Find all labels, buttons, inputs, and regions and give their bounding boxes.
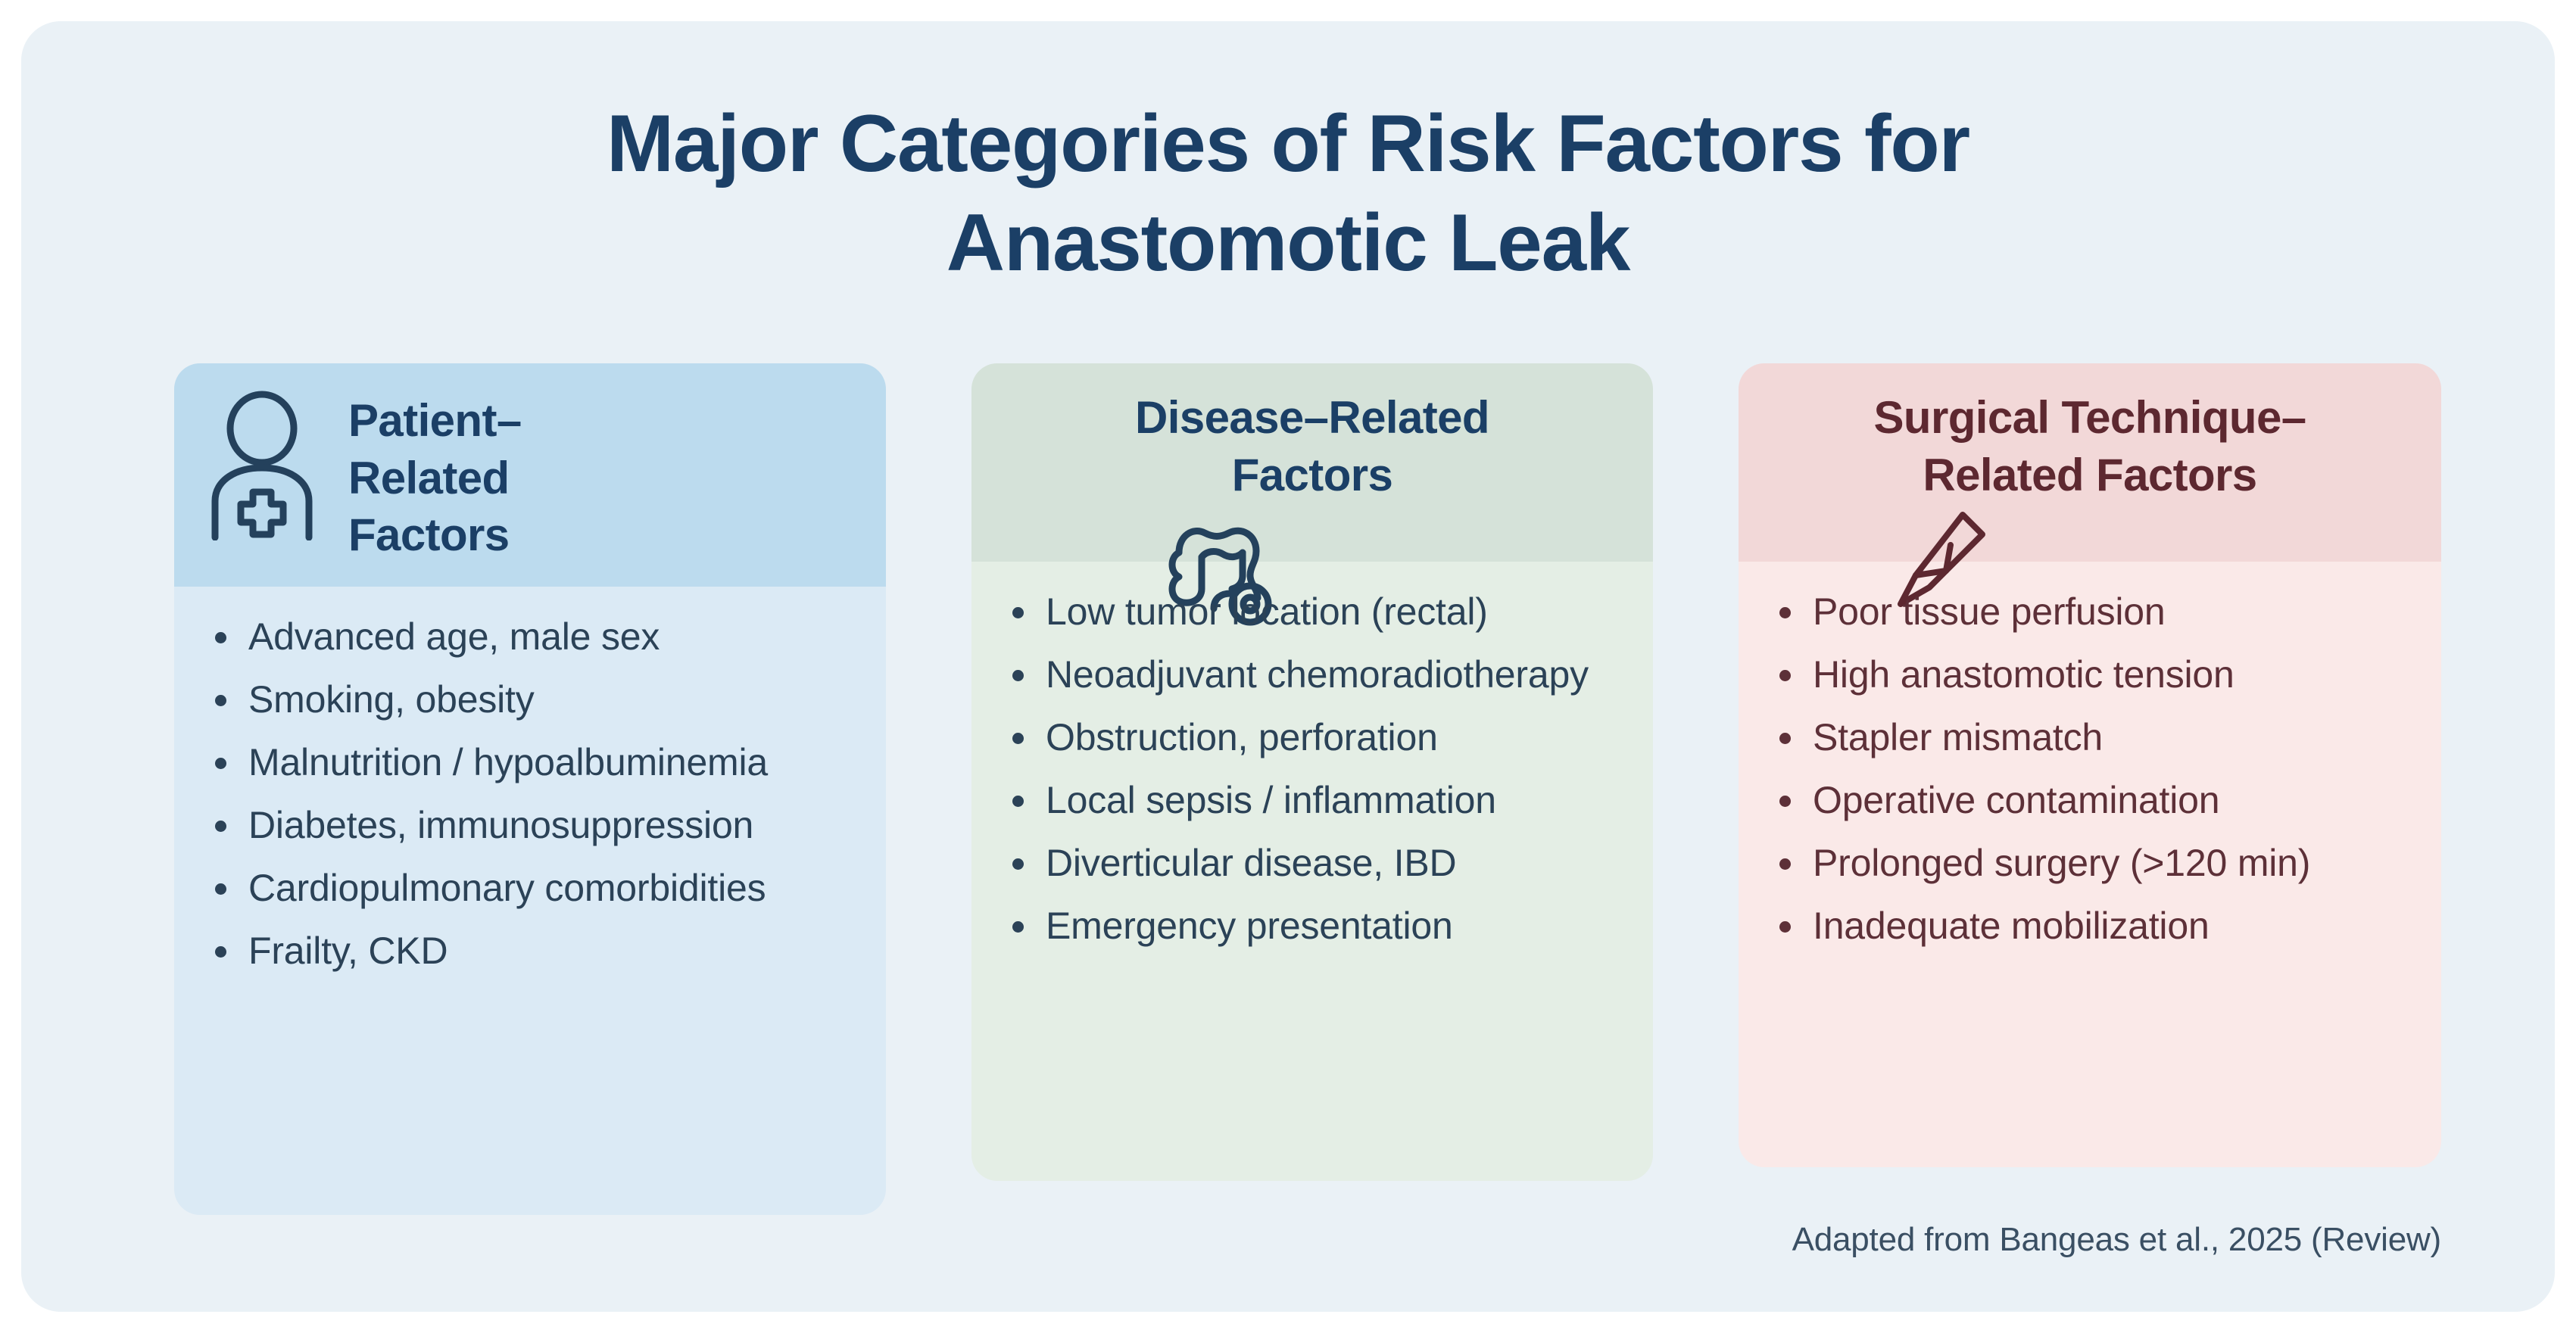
category-cards: Patient– Related Factors Advanced age, m…	[21, 363, 2555, 1188]
list-item: Poor tissue perfusion	[1773, 589, 2411, 635]
card-surgical-technique-related-body: Poor tissue perfusion High anastomotic t…	[1739, 562, 2441, 1167]
list-item: Operative contamination	[1773, 777, 2411, 824]
list-item: Malnutrition / hypoalbuminemia	[209, 740, 856, 786]
card-surgical-technique-related[interactable]: Surgical Technique– Related Factors Poor…	[1739, 363, 2441, 1167]
card-patient-related-title-line-3: Factors	[348, 506, 522, 564]
title-line-1: Major Categories of Risk Factors for	[21, 94, 2555, 193]
card-disease-related-title-line-1: Disease–Related	[1005, 389, 1620, 447]
list-item: Local sepsis / inflammation	[1006, 777, 1623, 824]
list-item: High anastomotic tension	[1773, 652, 2411, 698]
card-patient-related-body: Advanced age, male sex Smoking, obesity …	[174, 587, 886, 1215]
list-item: Neoadjuvant chemoradiotherapy	[1006, 652, 1623, 698]
list-item: Advanced age, male sex	[209, 614, 856, 660]
list-item: Inadequate mobilization	[1773, 903, 2411, 949]
list-item: Frailty, CKD	[209, 928, 856, 974]
list-item: Prolonged surgery (>120 min)	[1773, 840, 2411, 886]
card-patient-related-list: Advanced age, male sex Smoking, obesity …	[209, 614, 856, 974]
list-item: Diabetes, immunosuppression	[209, 802, 856, 849]
list-item: Stapler mismatch	[1773, 715, 2411, 761]
card-disease-related-body: Low tumor location (rectal) Neoadjuvant …	[971, 562, 1653, 1181]
patient-with-medical-cross-icon	[207, 389, 329, 544]
card-disease-related[interactable]: Disease–Related Factors	[971, 363, 1653, 1181]
list-item: Smoking, obesity	[209, 677, 856, 723]
card-surgical-technique-related-header: Surgical Technique– Related Factors	[1739, 363, 2441, 562]
page-title: Major Categories of Risk Factors for Ana…	[21, 94, 2555, 291]
list-item: Diverticular disease, IBD	[1006, 840, 1623, 886]
list-item: Emergency presentation	[1006, 903, 1623, 949]
card-disease-related-title-line-2: Factors	[1005, 447, 1620, 504]
card-surgical-technique-related-title: Surgical Technique– Related Factors	[1772, 389, 2408, 503]
card-patient-related-title-line-2: Related	[348, 450, 522, 507]
card-patient-related[interactable]: Patient– Related Factors Advanced age, m…	[174, 363, 886, 1215]
card-surgical-technique-related-title-line-2: Related Factors	[1772, 447, 2408, 504]
title-line-2: Anastomotic Leak	[21, 193, 2555, 292]
card-patient-related-header: Patient– Related Factors	[174, 363, 886, 587]
card-disease-related-header: Disease–Related Factors	[971, 363, 1653, 562]
card-surgical-technique-related-list: Poor tissue perfusion High anastomotic t…	[1773, 589, 2411, 949]
infographic-canvas: Major Categories of Risk Factors for Ana…	[21, 21, 2555, 1312]
card-disease-related-title: Disease–Related Factors	[1005, 389, 1620, 503]
card-patient-related-title-line-1: Patient–	[348, 392, 522, 450]
list-item: Low tumor location (rectal)	[1006, 589, 1623, 635]
list-item: Cardiopulmonary comorbidities	[209, 865, 856, 911]
card-disease-related-list: Low tumor location (rectal) Neoadjuvant …	[1006, 589, 1623, 949]
card-patient-related-title: Patient– Related Factors	[348, 389, 522, 564]
list-item: Obstruction, perforation	[1006, 715, 1623, 761]
card-surgical-technique-related-title-line-1: Surgical Technique–	[1772, 389, 2408, 447]
source-attribution: Adapted from Bangeas et al., 2025 (Revie…	[1792, 1221, 2441, 1259]
